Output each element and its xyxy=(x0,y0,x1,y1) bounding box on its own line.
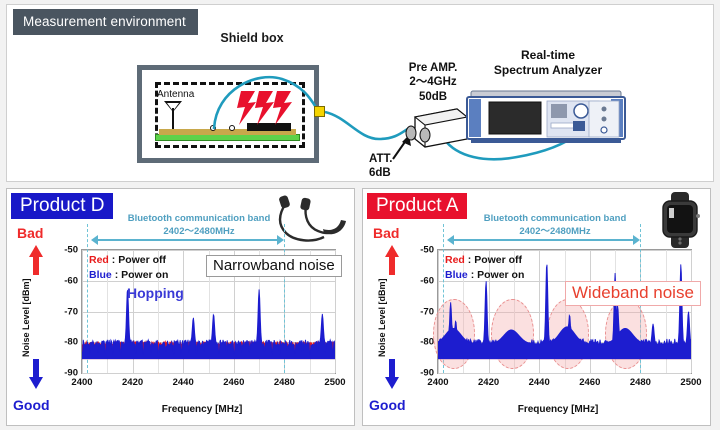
narrowband-noise-callout: Narrowband noise xyxy=(206,255,342,277)
x-tick-label: 2440 xyxy=(173,377,194,388)
x-tick-label: 2440 xyxy=(529,377,550,388)
smartwatch-icon xyxy=(658,192,704,253)
legend-key-blue: Blue xyxy=(445,269,468,281)
legend-key-red: Red xyxy=(89,254,109,266)
y-axis-label-a: Noise Level [dBm] xyxy=(377,278,387,357)
legend-value-blue: Power on xyxy=(121,269,168,281)
gridline-v xyxy=(691,250,692,373)
arrow-down-icon-a xyxy=(385,359,399,389)
spectrum-analyzer-label: Real-time Spectrum Analyzer xyxy=(473,48,623,78)
wideband-noise-callout: Wideband noise xyxy=(565,281,701,306)
product-d-badge: Product D xyxy=(11,193,113,219)
legend-row-red: Red : Power off xyxy=(89,253,168,268)
y-tick-label: -60 xyxy=(64,275,78,286)
legend-value-red: Power off xyxy=(474,254,522,266)
band-range-arrow-a xyxy=(447,235,640,245)
y-tick-label: -70 xyxy=(420,306,434,317)
x-axis-label-a: Frequency [MHz] xyxy=(423,404,693,415)
panel-title: Measurement environment xyxy=(13,9,198,35)
gridline-h xyxy=(438,373,691,374)
analyzer-line2: Spectrum Analyzer xyxy=(473,63,623,78)
x-tick-label: 2460 xyxy=(223,377,244,388)
measurement-environment-panel: Shield box Antenna xyxy=(6,4,714,182)
legend-row-red: Red : Power off xyxy=(445,253,524,268)
x-tick-label: 2420 xyxy=(478,377,499,388)
legend-sep-blue: : xyxy=(471,269,475,281)
legend-sep-blue: : xyxy=(115,269,119,281)
legend-value-blue: Power on xyxy=(477,269,524,281)
att-line2: 6dB xyxy=(369,167,413,181)
trace-fill xyxy=(82,289,335,373)
x-tick-label: 2500 xyxy=(680,377,701,388)
att-label: ATT. 6dB xyxy=(369,153,413,181)
x-tick-label: 2460 xyxy=(579,377,600,388)
x-tick-label: 2480 xyxy=(274,377,295,388)
x-tick-label: 2500 xyxy=(324,377,345,388)
y-tick-label: -80 xyxy=(420,337,434,348)
band-range-arrow-d xyxy=(91,235,284,245)
product-a-panel: Product A Bluetooth communication band 2… xyxy=(362,188,711,426)
arrow-down-icon-d xyxy=(29,359,43,389)
y-tick-label: -50 xyxy=(420,245,434,256)
gridline-h xyxy=(82,373,335,374)
legend-d: Red : Power off Blue : Power on xyxy=(89,253,168,283)
y-tick-label: -80 xyxy=(64,337,78,348)
legend-a: Red : Power off Blue : Power on xyxy=(445,253,524,283)
pre-amp-line1: Pre AMP. xyxy=(387,61,479,75)
x-tick-label: 2400 xyxy=(427,377,448,388)
y-axis-label-d: Noise Level [dBm] xyxy=(21,278,31,357)
legend-row-blue: Blue : Power on xyxy=(89,268,168,283)
spectrum-analyzer-icon xyxy=(465,83,627,145)
legend-sep-red: : xyxy=(112,254,116,266)
x-tick-label: 2420 xyxy=(122,377,143,388)
att-line1: ATT. xyxy=(369,153,413,167)
legend-value-red: Power off xyxy=(118,254,166,266)
band-line1: Bluetooth communication band xyxy=(99,213,299,226)
good-label-d: Good xyxy=(13,397,50,413)
legend-row-blue: Blue : Power on xyxy=(445,268,524,283)
bad-label-d: Bad xyxy=(17,225,43,241)
x-tick-label: 2400 xyxy=(71,377,92,388)
hopping-label: Hopping xyxy=(127,285,184,301)
legend-key-red: Red xyxy=(445,254,465,266)
pre-amp-module-icon xyxy=(405,103,469,151)
legend-sep-red: : xyxy=(468,254,472,266)
arrow-up-icon-d xyxy=(29,245,43,275)
y-tick-label: -60 xyxy=(420,275,434,286)
y-tick-label: -50 xyxy=(64,245,78,256)
analyzer-line1: Real-time xyxy=(473,48,623,63)
trace-line-power-on xyxy=(82,289,335,354)
x-tick-label: 2480 xyxy=(630,377,651,388)
x-axis-label-d: Frequency [MHz] xyxy=(67,404,337,415)
band-line1: Bluetooth communication band xyxy=(455,213,655,226)
bad-label-a: Bad xyxy=(373,225,399,241)
screenshot-root: Shield box Antenna xyxy=(0,0,720,430)
arrow-up-icon-a xyxy=(385,245,399,275)
product-a-badge: Product A xyxy=(367,193,467,219)
legend-key-blue: Blue xyxy=(89,269,112,281)
y-tick-label: -70 xyxy=(64,306,78,317)
connector-feedthrough xyxy=(314,106,325,117)
product-d-panel: Product D Bluetooth communication band 2… xyxy=(6,188,355,426)
good-label-a: Good xyxy=(369,397,406,413)
